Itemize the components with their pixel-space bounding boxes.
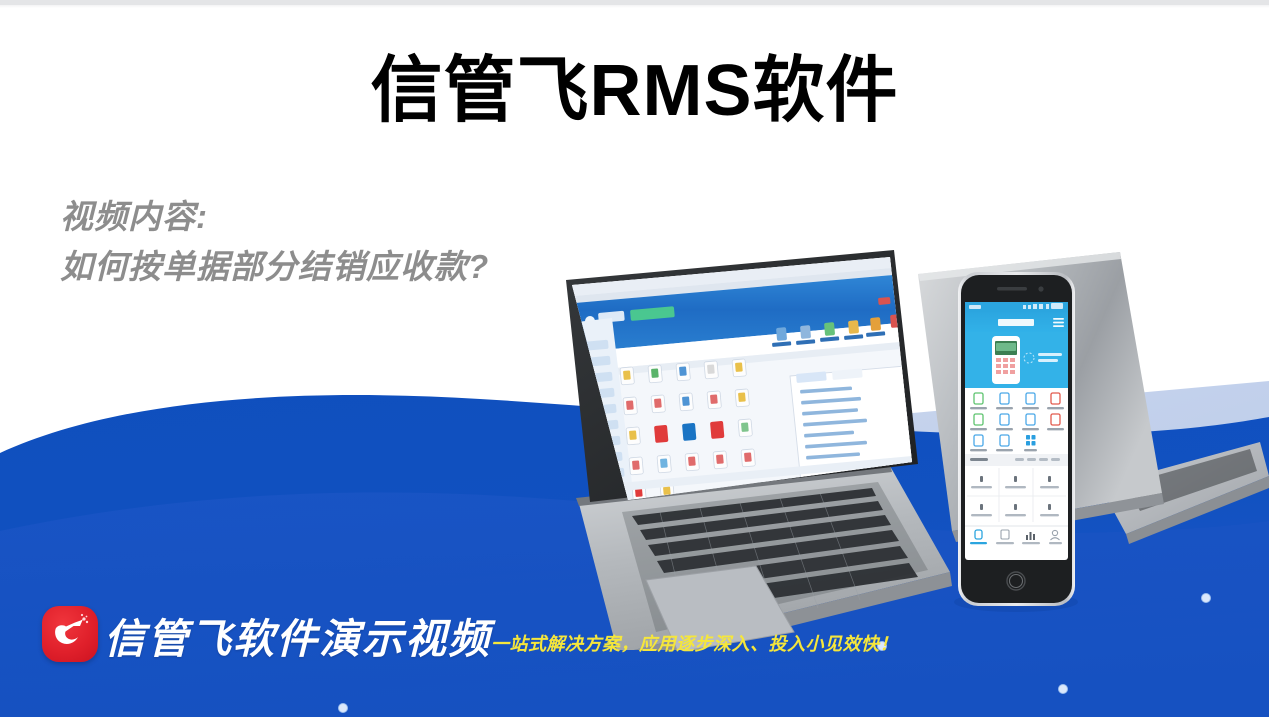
page-title: 信管飞RMS软件 [0, 52, 1269, 131]
bottom-brand-bar: 信管飞软件演示视频 一站式解决方案，应用逐步深入、投入小见效快！ [0, 597, 1269, 717]
laptop-front [566, 250, 952, 650]
dove-logo-icon [42, 606, 98, 662]
smartphone [954, 272, 1078, 612]
devices-illustration [560, 250, 1269, 650]
top-strip-fade [0, 5, 1269, 8]
video-subtitle: 视频内容: 如何按单据部分结销应收款? [60, 192, 489, 292]
brand-tagline: 一站式解决方案，应用逐步深入、投入小见效快！ [491, 630, 898, 656]
subtitle-line-2: 如何按单据部分结销应收款? [60, 242, 489, 292]
brand-text: 信管飞软件演示视频 [104, 605, 491, 665]
phone-app-screen [965, 302, 1068, 548]
hamburger-menu-icon [1053, 318, 1064, 327]
subtitle-line-1: 视频内容: [60, 192, 489, 242]
slide-root: 信管飞RMS软件 视频内容: 如何按单据部分结销应收款? 信管飞软件演示视频 一… [0, 0, 1269, 717]
brand-logo [42, 606, 98, 662]
